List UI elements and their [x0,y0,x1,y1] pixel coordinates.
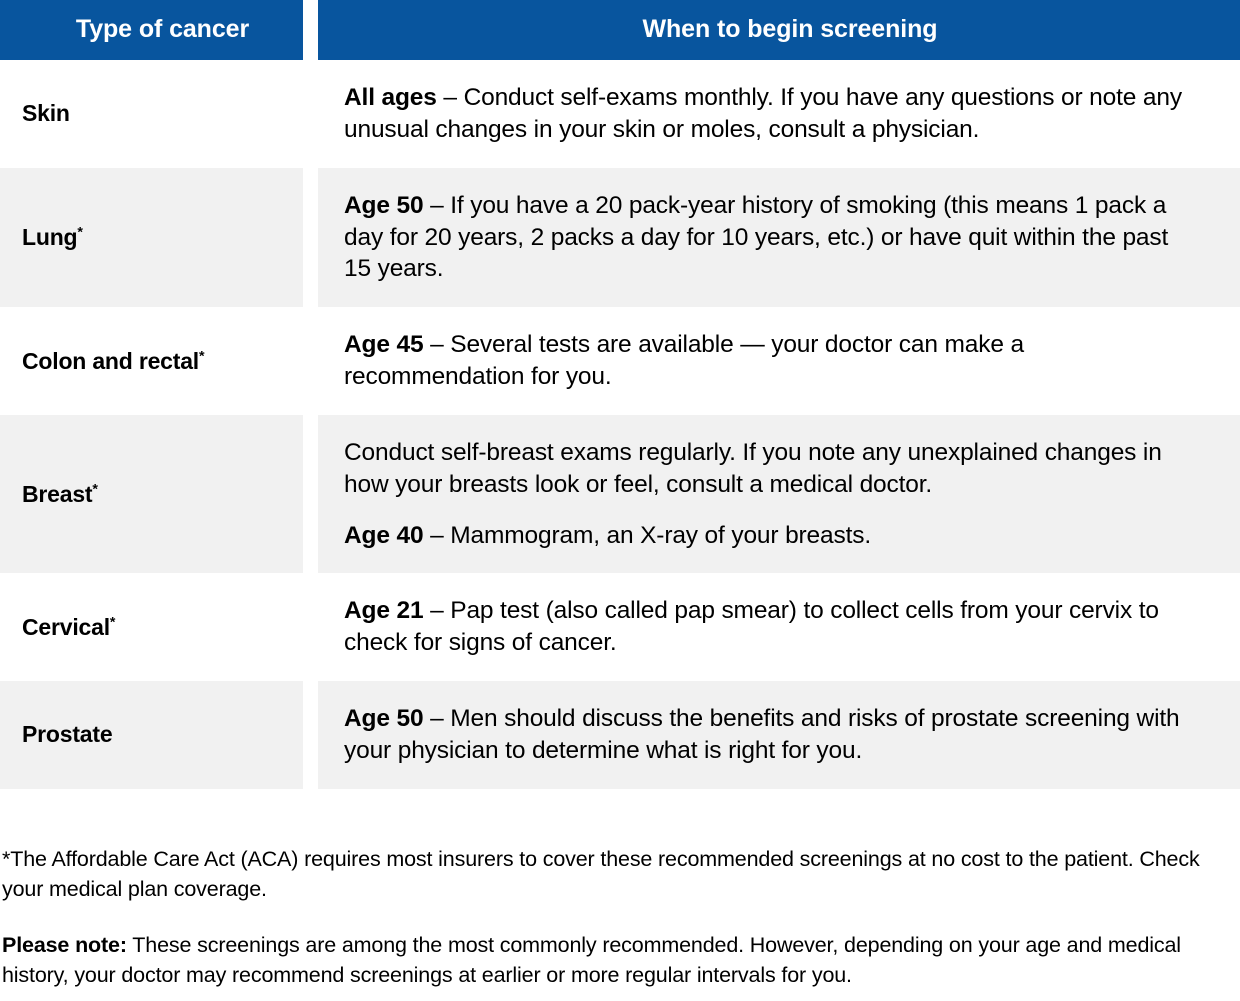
cancer-type-label: Skin [0,60,303,168]
guidance-dash: – [437,84,464,111]
footnote-asterisk: * [199,348,204,364]
guidance-text: Conduct self-breast exams regularly. If … [344,439,1162,498]
cancer-type-label: Lung* [0,168,303,308]
guidance-paragraph: Age 21 – Pap test (also called pap smear… [344,595,1182,659]
cancer-type-label: Cervical* [0,573,303,681]
table-row: Breast*Conduct self-breast exams regular… [0,415,1240,574]
column-gap [303,168,318,308]
guidance-text: Men should discuss the benefits and risk… [344,705,1180,764]
guidance-text: Mammogram, an X-ray of your breasts. [450,522,871,549]
header-column-gap [303,0,318,60]
guidance-age-lead: All ages [344,84,437,111]
cancer-screening-table: Type of cancer When to begin screening S… [0,0,1240,789]
footnote-asterisk: * [92,481,97,497]
column-gap [303,60,318,168]
guidance-text: If you have a 20 pack-year history of sm… [344,192,1168,283]
footnote-lead: Please note: [2,933,127,957]
footnote-text: These screenings are among the most comm… [2,933,1181,987]
table-row: Cervical*Age 21 – Pap test (also called … [0,573,1240,681]
cancer-type-label: Colon and rectal* [0,307,303,415]
guidance-dash: – [423,192,450,219]
footnotes-section: *The Affordable Care Act (ACA) requires … [0,789,1240,990]
guidance-paragraph: Conduct self-breast exams regularly. If … [344,437,1182,501]
cancer-type-text: Prostate [22,721,112,747]
screening-guidance-cell: All ages – Conduct self-exams monthly. I… [318,60,1240,168]
screening-guidance-cell: Age 21 – Pap test (also called pap smear… [318,573,1240,681]
column-header-type-of-cancer: Type of cancer [0,0,303,60]
column-header-when-to-begin-screening: When to begin screening [318,0,1240,60]
table-header: Type of cancer When to begin screening [0,0,1240,60]
column-gap [303,573,318,681]
guidance-paragraph: Age 50 – If you have a 20 pack-year hist… [344,190,1182,286]
column-gap [303,307,318,415]
screening-guidance-cell: Age 50 – Men should discuss the benefits… [318,681,1240,789]
cancer-type-text: Colon and rectal [22,348,199,374]
footnote-paragraph: *The Affordable Care Act (ACA) requires … [2,844,1226,904]
guidance-age-lead: Age 50 [344,705,423,732]
guidance-text: Conduct self-exams monthly. If you have … [344,84,1182,143]
guidance-dash: – [423,331,450,358]
table-row: Lung*Age 50 – If you have a 20 pack-year… [0,168,1240,308]
guidance-paragraph: Age 40 – Mammogram, an X-ray of your bre… [344,520,1182,552]
cancer-type-label: Breast* [0,415,303,574]
guidance-paragraph: All ages – Conduct self-exams monthly. I… [344,82,1182,146]
guidance-dash: – [423,597,450,624]
guidance-dash: – [423,522,450,549]
cancer-type-text: Skin [22,100,70,126]
cancer-type-label: Prostate [0,681,303,789]
cancer-type-text: Lung [22,224,77,250]
guidance-paragraph: Age 50 – Men should discuss the benefits… [344,703,1182,767]
footnote-asterisk: * [110,614,115,630]
guidance-paragraph: Age 45 – Several tests are available — y… [344,329,1182,393]
table-row: Colon and rectal*Age 45 – Several tests … [0,307,1240,415]
screening-guidance-cell: Age 45 – Several tests are available — y… [318,307,1240,415]
screening-guidance-cell: Conduct self-breast exams regularly. If … [318,415,1240,574]
guidance-age-lead: Age 45 [344,331,423,358]
guidance-age-lead: Age 21 [344,597,423,624]
guidance-age-lead: Age 50 [344,192,423,219]
cancer-type-text: Breast [22,481,92,507]
footnote-text: *The Affordable Care Act (ACA) requires … [2,847,1200,901]
guidance-text: Pap test (also called pap smear) to coll… [344,597,1159,656]
table-row: ProstateAge 50 – Men should discuss the … [0,681,1240,789]
guidance-dash: – [423,705,450,732]
table-row: SkinAll ages – Conduct self-exams monthl… [0,60,1240,168]
screening-schedule-page: Type of cancer When to begin screening S… [0,0,1240,1001]
column-gap [303,415,318,574]
guidance-age-lead: Age 40 [344,522,423,549]
column-gap [303,681,318,789]
footnote-paragraph: Please note: These screenings are among … [2,930,1226,990]
footnote-asterisk: * [77,224,82,240]
table-body: SkinAll ages – Conduct self-exams monthl… [0,60,1240,789]
table-header-row: Type of cancer When to begin screening [0,0,1240,60]
screening-guidance-cell: Age 50 – If you have a 20 pack-year hist… [318,168,1240,308]
cancer-type-text: Cervical [22,614,110,640]
